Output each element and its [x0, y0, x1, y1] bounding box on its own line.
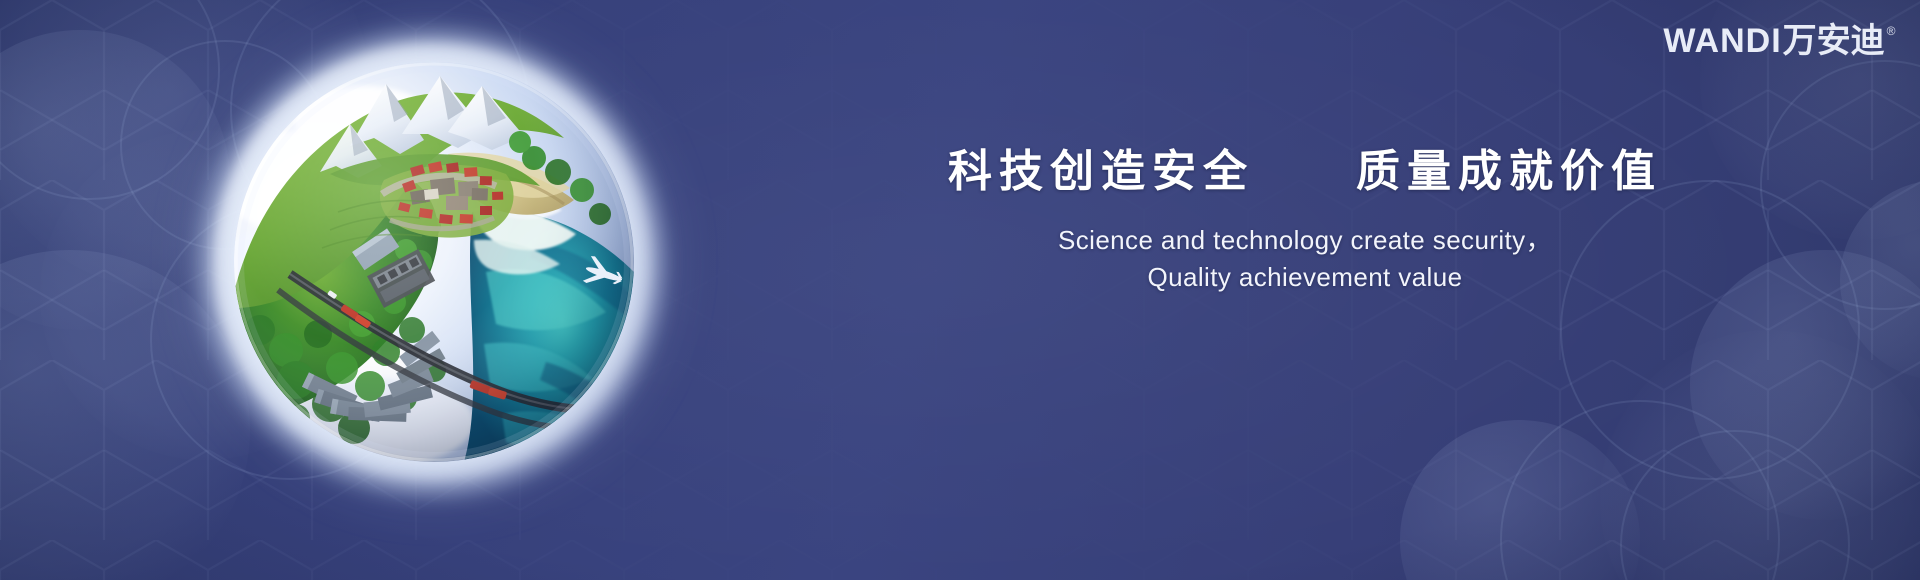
banner-copy: 科技创造安全 质量成就价值 Science and technology cre… — [745, 150, 1865, 296]
banner-subtitle: Science and technology create security， … — [745, 222, 1865, 296]
logo-chinese-text: 万安迪 — [1783, 24, 1885, 58]
logo-latin-text: WANDI — [1663, 24, 1781, 58]
promo-banner: WANDI 万安迪 ® 科技创造安全 质量成就价值 Science and te… — [0, 0, 1920, 580]
airplane-icon — [576, 254, 632, 294]
subtitle-line-1: Science and technology create security， — [745, 222, 1865, 259]
registered-trademark-icon: ® — [1887, 25, 1896, 37]
brand-logo[interactable]: WANDI 万安迪 ® — [1663, 24, 1896, 58]
globe-image — [234, 62, 634, 462]
page-title: 科技创造安全 质量成就价值 — [745, 150, 1865, 194]
subtitle-line-2: Quality achievement value — [745, 259, 1865, 296]
tiny-planet-globe — [196, 28, 666, 498]
